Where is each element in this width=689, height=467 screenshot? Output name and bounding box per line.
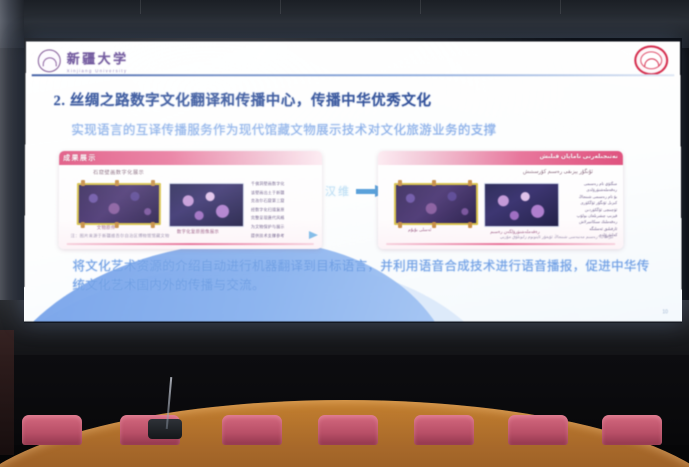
auditorium-photo: 新疆大学 Xinjiang University 2. 丝绸之路数字文化翻译和传… [0, 0, 689, 467]
panel-right-header-bar: نەتىجىلەرنى نامايان قىلىش [378, 151, 623, 165]
chair [414, 415, 474, 445]
slide-body-paragraph: 将文化艺术资源的介绍自动进行机器翻译到目标语言，并利用语音合成技术进行语音播报，… [72, 257, 653, 295]
desc-line-uy: ئۈچىنچى ئۆڭكۈردىن [577, 207, 618, 212]
presentation-slide: 新疆大学 Xinjiang University 2. 丝绸之路数字文化翻译和传… [24, 41, 682, 321]
panel-left-rule [67, 243, 314, 245]
panel-left-badge: 成果展示 [63, 153, 97, 163]
microphone-base [148, 419, 182, 439]
desc-line-uy: مىڭئۆي تام رەسىمى [577, 181, 617, 186]
desc-line: 经数字化扫描复原 [251, 207, 285, 213]
panel-left-header-bar: 成果展示 [59, 151, 322, 165]
slide-title: 2. 丝绸之路数字文化翻译和传播中心，传播中华优秀文化 [53, 89, 431, 110]
artifact-thumbnail-original [77, 183, 161, 225]
panel-right-footnote: ئىزاھات: رەسىم مەنبەسى شىنجاڭ ئۇيغۇر ئاپ… [500, 234, 613, 239]
desc-line: 完整呈现唐代风格 [251, 215, 285, 221]
thumb-b-label: 数字化复原图像展示 [177, 229, 219, 235]
panel-right-rule [386, 243, 615, 245]
panel-right-badge: نەتىجىلەرنى نامايان قىلىش [539, 153, 617, 160]
chair [508, 415, 568, 445]
translation-direction-label: 汉维 [325, 183, 351, 199]
desc-line-uy: رەقەملەشتۈرۈلدى [577, 187, 618, 192]
chair [222, 415, 282, 445]
desc-line: 该壁画出土于新疆 [251, 190, 285, 196]
university-logo: 新疆大学 Xinjiang University [38, 48, 129, 73]
desc-line-uy: قېزىپ چىقىرىلغان بولۇپ [577, 213, 618, 218]
artifact-thumbnail-digital-uy [484, 183, 559, 227]
panel-uyghur: نەتىجىلەرنى نامايان قىلىش ئۇنگۇر يېزىقى … [378, 151, 623, 249]
header-divider [32, 74, 675, 76]
wall-speaker [0, 330, 14, 455]
desc-line-uy: ئارقىلىق ئەسلىگە [577, 226, 618, 231]
desc-line: 克孜尔石窟第三窟 [251, 198, 285, 204]
panel-left-caption: 石窟壁画数字化展示 [93, 169, 144, 176]
chair [318, 415, 378, 445]
desc-line-uy: بۇ تام رەسىمى شىنجاڭ [577, 194, 618, 199]
chair [22, 415, 82, 445]
thumb-a-label: 文物原件 [97, 225, 116, 231]
chair [602, 415, 662, 445]
university-emblem-icon [38, 49, 61, 72]
slide-subtitle: 实现语言的互译传播服务作为现代馆藏文物展示技术对文化旅游业务的支撑 [71, 119, 496, 138]
artifact-thumbnail-digital [169, 183, 244, 227]
panel-chinese: 成果展示 石窟壁画数字化展示 文物原件 数字化复原图像展示 千佛洞壁画数字化 该… [59, 151, 322, 249]
slide-header: 新疆大学 Xinjiang University [26, 41, 681, 75]
panel-right-description: مىڭئۆي تام رەسىمى رەقەملەشتۈرۈلدى بۇ تام… [577, 181, 618, 237]
desc-line-uy: رەقەملىك سىكاننېرلاش [577, 219, 618, 224]
red-circular-seal-icon [634, 45, 668, 75]
panel-left-footnote: 注：图片来源于新疆维吾尔自治区博物馆馆藏文物 [71, 233, 170, 239]
desc-line-uy: كىزىل ئۇنگۇر ئۆڭكۈرى [577, 200, 618, 205]
side-wall [0, 0, 24, 330]
artifact-thumbnail-original-uy [394, 183, 478, 225]
panel-right-caption: ئۇنگۇر يېزىقى رەسىم كۆرسىتىش [523, 169, 593, 175]
slide-page-number: 10 [662, 309, 668, 315]
desc-line: 提供技术支撑参考 [251, 233, 285, 239]
desc-line: 为文物保护与展示 [251, 224, 285, 230]
university-name-en: Xinjiang University [67, 68, 129, 73]
panel-left-description: 千佛洞壁画数字化 该壁画出土于新疆 克孜尔石窟第三窟 经数字化扫描复原 完整呈现… [251, 181, 285, 239]
thumb-a-label-uy: ئەسلى بۇيۇم [408, 227, 431, 233]
desc-line: 千佛洞壁画数字化 [251, 181, 285, 187]
secondary-arrow-icon [309, 231, 318, 239]
university-name-cn: 新疆大学 [67, 48, 129, 67]
